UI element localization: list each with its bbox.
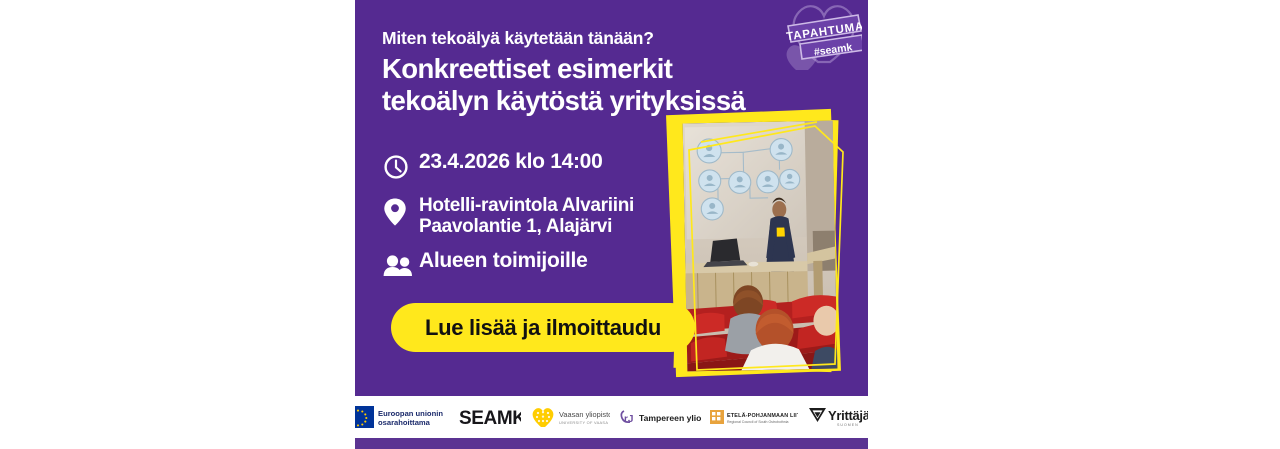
seamk-logo-text: SEAMK — [459, 408, 521, 428]
vaasa-logo-line1: Vaasan yliopisto — [559, 410, 610, 419]
eu-funding-logo: Euroopan unionin osarahoittama — [355, 404, 450, 430]
ep-logo-line1: ETELÄ-POHJANMAAN LIITTO — [727, 412, 798, 419]
detail-row-datetime: 23.4.2026 klo 14:00 — [383, 148, 683, 184]
bottom-purple-strip — [355, 438, 868, 449]
event-details-list: 23.4.2026 klo 14:00 Hotelli-ravintola Al… — [383, 148, 683, 292]
yrittajat-logo: Yrittäjät SUOMEN — [807, 404, 868, 430]
yrittajat-logo-subtext: SUOMEN — [837, 423, 859, 427]
event-promo-card[interactable]: TAPAHTUMA #seamk Miten tekoälyä käytetää… — [355, 0, 868, 449]
ep-logo-line2: Regional Council of South Ostrobothnia — [727, 420, 789, 424]
detail-row-venue: Hotelli-ravintola Alvariini Paavolantie … — [383, 193, 683, 238]
register-cta-button[interactable]: Lue lisää ja ilmoittaudu — [391, 303, 695, 352]
eu-logo-line1: Euroopan unionin — [378, 409, 443, 418]
event-audience: Alueen toimijoille — [419, 247, 587, 272]
headline-kicker: Miten tekoälyä käytetään tänään? — [382, 28, 812, 50]
etela-pohjanmaan-liitto-logo: ETELÄ-POHJANMAAN LIITTO Regional Council… — [710, 406, 798, 428]
seamk-logo: SEAMK — [459, 406, 521, 428]
event-photo — [683, 121, 838, 372]
clock-icon — [383, 148, 419, 184]
promo-purple-panel: TAPAHTUMA #seamk Miten tekoälyä käytetää… — [355, 0, 868, 396]
headline-block: Miten tekoälyä käytetään tänään? Konkree… — [382, 28, 812, 118]
vaasa-logo-line2: UNIVERSITY OF VAASA — [559, 420, 608, 425]
detail-row-audience: Alueen toimijoille — [383, 247, 683, 283]
tampere-logo-text: Tampereen yliopisto — [639, 413, 701, 423]
tampereen-yliopisto-logo: rJ Tampereen yliopisto — [619, 406, 701, 428]
svg-text:rJ: rJ — [624, 414, 633, 425]
page-title: Konkreettiset esimerkit tekoälyn käytöst… — [382, 53, 812, 118]
vaasan-yliopisto-logo: Vaasan yliopisto UNIVERSITY OF VAASA — [530, 405, 610, 429]
people-icon — [383, 247, 419, 283]
screenshot-stage: TAPAHTUMA #seamk Miten tekoälyä käytetää… — [0, 0, 1280, 449]
event-datetime: 23.4.2026 klo 14:00 — [419, 148, 602, 173]
yrittajat-logo-text: Yrittäjät — [828, 408, 868, 423]
location-pin-icon — [383, 193, 419, 229]
event-venue: Hotelli-ravintola Alvariini Paavolantie … — [419, 193, 634, 238]
partner-logo-bar: Euroopan unionin osarahoittama SEAMK — [355, 396, 868, 438]
eu-logo-line2: osarahoittama — [378, 418, 431, 427]
